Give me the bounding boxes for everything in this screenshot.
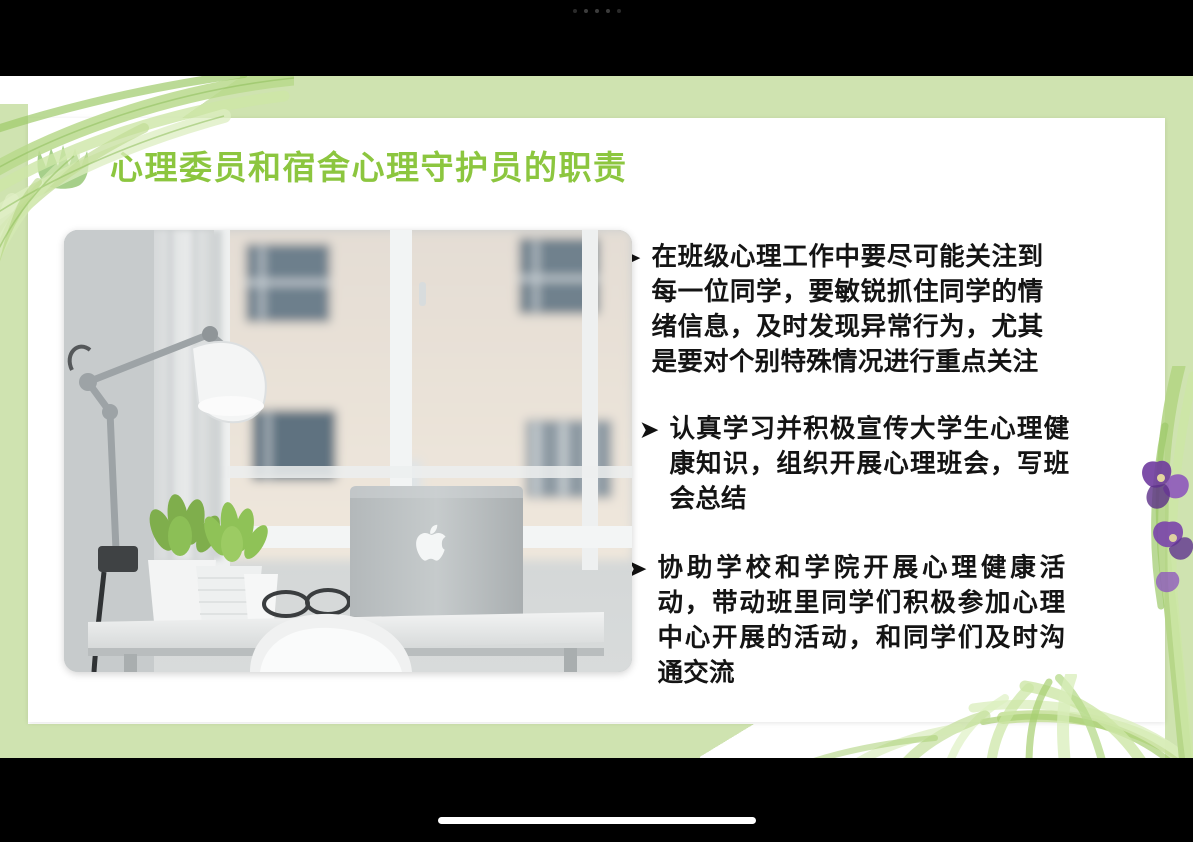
page-dot: [617, 9, 621, 13]
bullet-item[interactable]: ➤ 认真学习并积极宣传大学生心理健康知识，组织开展心理班会，写班会总结: [640, 412, 1123, 517]
home-indicator[interactable]: [438, 817, 756, 824]
bullet-item[interactable]: ➤ 协助学校和学院开展心理健康活动，带动班里同学们积极参加心理中心开展的活动，和…: [628, 551, 1123, 691]
bullet-text: 在班级心理工作中要尽可能关注到每一位同学，要敏锐抓住同学的情绪信息，及时发现异常…: [651, 240, 1043, 380]
frame-band-top: [240, 76, 1193, 118]
page-dot: [573, 9, 577, 13]
desk-photo[interactable]: [64, 230, 632, 672]
desk-photo-illustration: [64, 230, 632, 672]
page-dot: [595, 9, 599, 13]
page-indicator-dots: [0, 5, 1193, 17]
frame-band-left: [0, 104, 28, 758]
slide-body: ➤ 在班级心理工作中要尽可能关注到每一位同学，要敏锐抓住同学的情绪信息，及时发现…: [28, 216, 1165, 722]
bullet-item[interactable]: ➤ 在班级心理工作中要尽可能关注到每一位同学，要敏锐抓住同学的情绪信息，及时发现…: [622, 240, 1123, 380]
slide-header: 心理委员和宿舍心理守护员的职责: [28, 140, 628, 190]
bullet-list: ➤ 在班级心理工作中要尽可能关注到每一位同学，要敏锐抓住同学的情绪信息，及时发现…: [600, 216, 1165, 722]
photo-container: [28, 216, 600, 722]
page-dot: [584, 9, 588, 13]
slide-content-card: 心理委员和宿舍心理守护员的职责: [28, 118, 1165, 722]
frame-band-bottom: [0, 724, 700, 758]
frame-band-right: [1165, 76, 1193, 758]
bullet-arrow-icon: ➤: [640, 412, 658, 447]
bullet-text: 认真学习并积极宣传大学生心理健康知识，组织开展心理班会，写班会总结: [669, 412, 1069, 517]
page-title: 心理委员和宿舍心理守护员的职责: [110, 141, 628, 189]
presentation-slide[interactable]: 心理委员和宿舍心理守护员的职责: [0, 76, 1193, 758]
page-dot: [606, 9, 610, 13]
crown-sprout-icon: [34, 140, 92, 190]
slide-viewer: 心理委员和宿舍心理守护员的职责: [0, 0, 1193, 842]
bullet-text: 协助学校和学院开展心理健康活动，带动班里同学们积极参加心理中心开展的活动，和同学…: [657, 551, 1065, 691]
